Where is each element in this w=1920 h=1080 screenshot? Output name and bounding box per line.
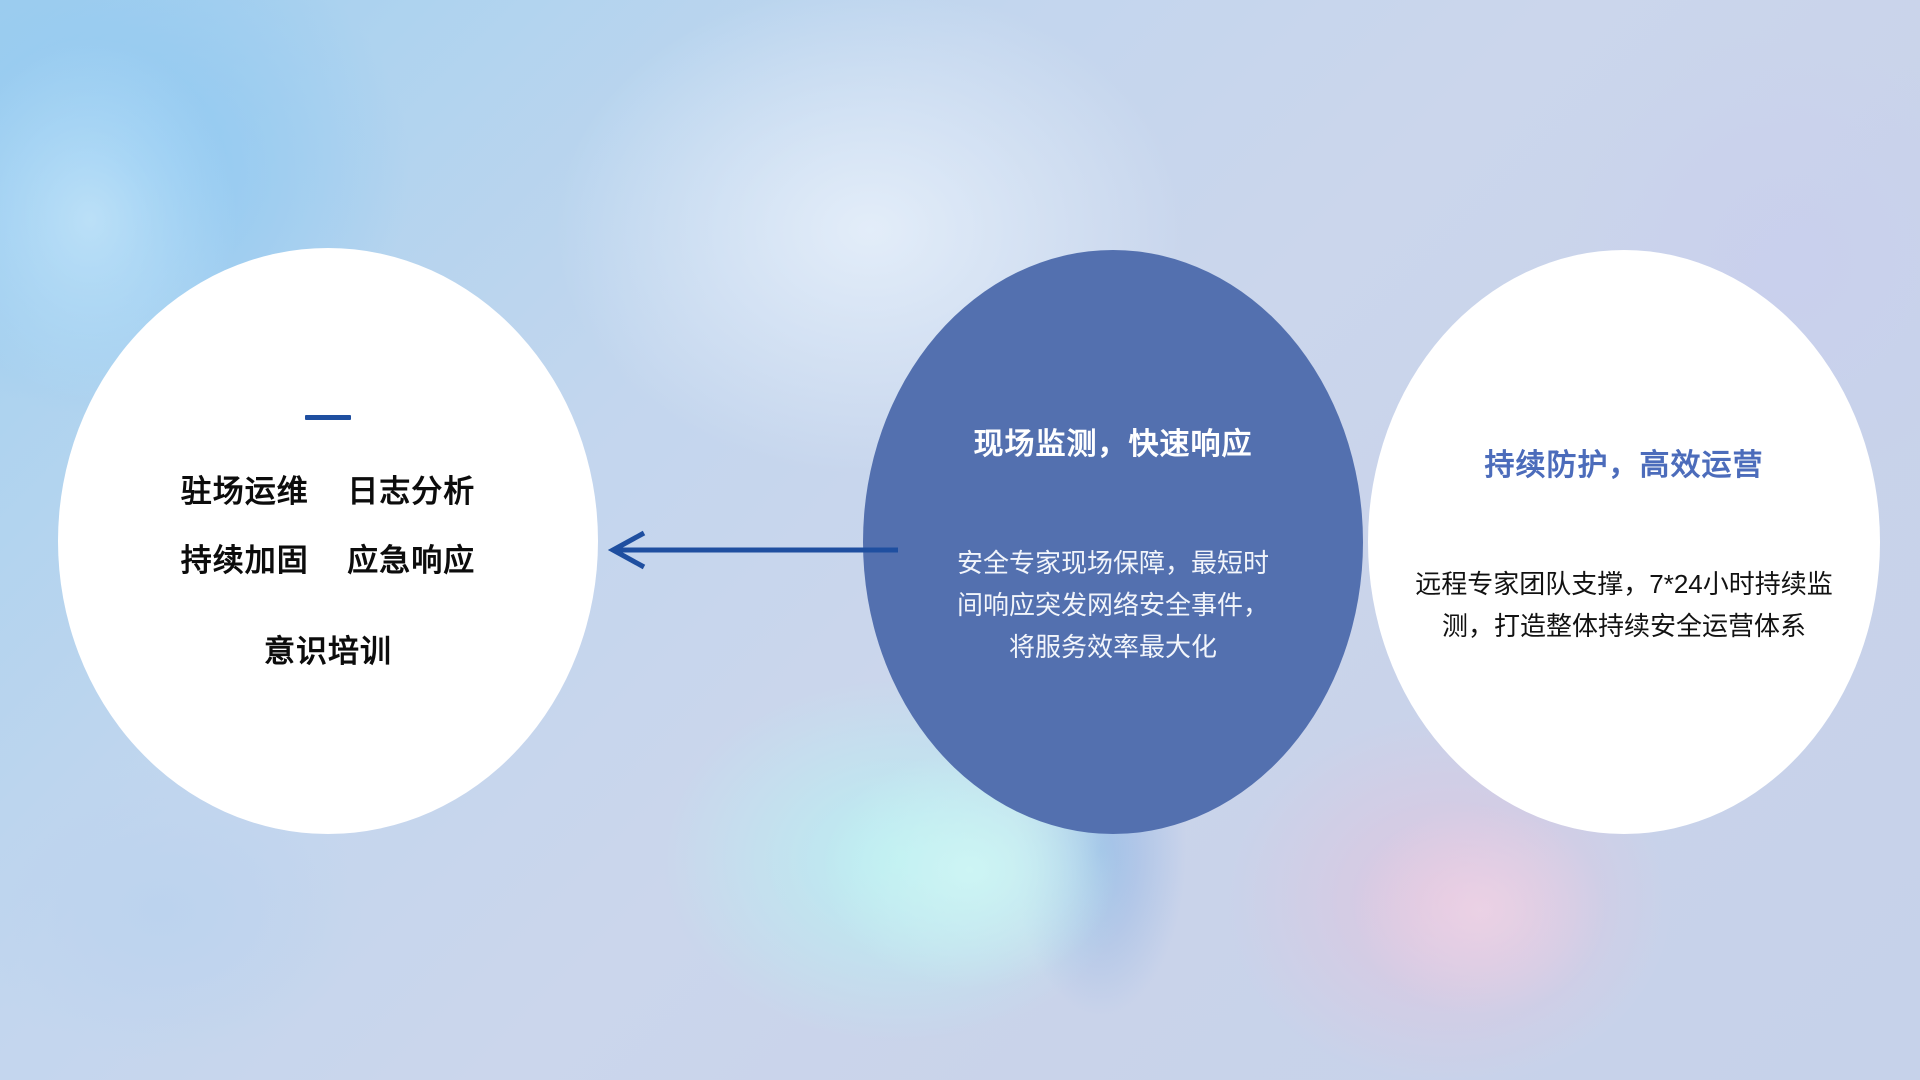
- continuous-protection-body: 远程专家团队支撑，7*24小时持续监测，打造整体持续安全运营体系: [1414, 563, 1834, 647]
- continuous-protection-title: 持续防护，高效运营: [1485, 451, 1764, 481]
- capability-line-3: 意识培训: [264, 636, 392, 667]
- onsite-monitoring-title: 现场监测，快速响应: [974, 430, 1253, 460]
- capabilities-circle[interactable]: 驻场运维 日志分析 持续加固 应急响应 意识培训: [58, 248, 598, 834]
- onsite-monitoring-body: 安全专家现场保障，最短时间响应突发网络安全事件，将服务效率最大化: [948, 542, 1278, 668]
- capability-line-2: 持续加固 应急响应: [181, 545, 475, 576]
- divider-dash-icon: [305, 415, 351, 420]
- capability-line-1: 驻场运维 日志分析: [181, 476, 475, 507]
- flow-arrow-left: [600, 520, 900, 580]
- onsite-monitoring-circle[interactable]: 现场监测，快速响应 安全专家现场保障，最短时间响应突发网络安全事件，将服务效率最…: [863, 250, 1363, 834]
- slide-stage: 驻场运维 日志分析 持续加固 应急响应 意识培训 持续防护，高效运营 远程专家团…: [0, 0, 1920, 1080]
- continuous-protection-circle[interactable]: 持续防护，高效运营 远程专家团队支撑，7*24小时持续监测，打造整体持续安全运营…: [1368, 250, 1880, 834]
